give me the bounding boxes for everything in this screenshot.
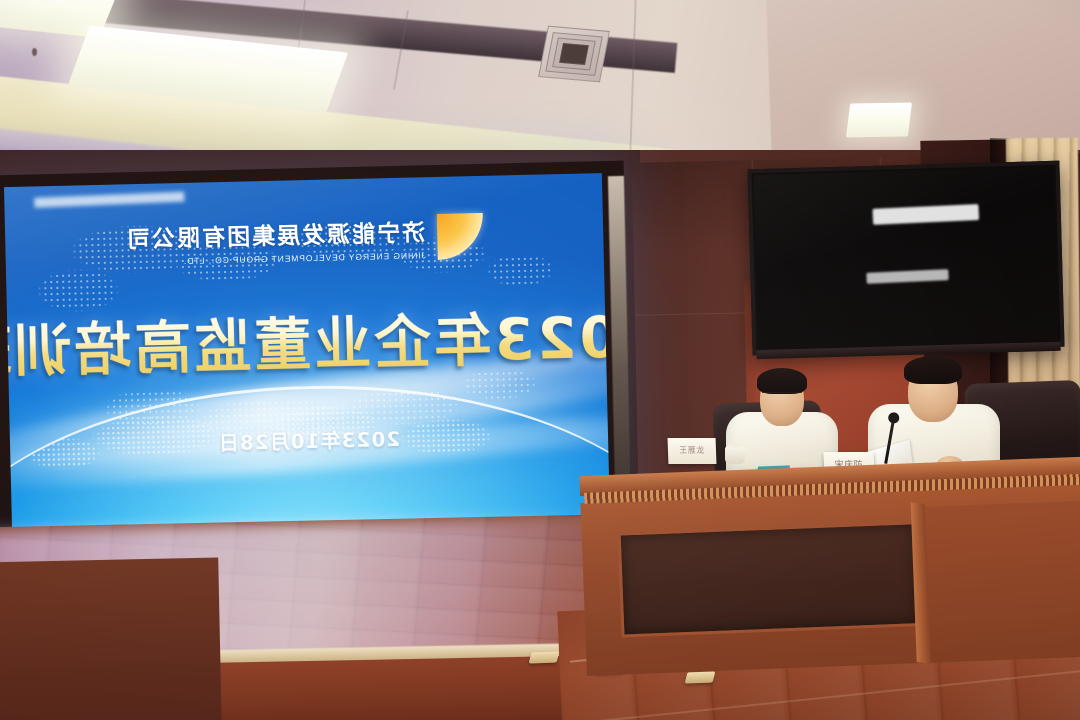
tv-reflection xyxy=(866,269,948,284)
hair xyxy=(904,356,962,384)
fan-logo-icon xyxy=(437,212,484,259)
floor-marker xyxy=(685,671,716,683)
rostrum-inset-panel xyxy=(618,521,922,637)
nameplate-left-text: 王雁龙 xyxy=(679,447,705,456)
nameplate-left: 王雁龙 xyxy=(668,438,717,464)
company-logo-block: 济宁能源发展集团有限公司 JINING ENERGY DEVELOPMENT G… xyxy=(125,212,484,267)
tv-reflection xyxy=(872,204,979,225)
ceiling-fixture-dot xyxy=(32,48,37,56)
photograph-scene: 济宁能源发展集团有限公司 JINING ENERGY DEVELOPMENT G… xyxy=(0,0,1080,720)
rostrum xyxy=(579,456,1080,676)
slide-date: 2023年10月28日 xyxy=(218,423,401,456)
slide-title: 2023年企业董监高培训班 xyxy=(4,291,610,390)
ceiling-seam xyxy=(629,0,636,150)
floor-marker xyxy=(529,651,560,663)
hair xyxy=(757,368,807,394)
led-screen-frame: 济宁能源发展集团有限公司 JINING ENERGY DEVELOPMENT G… xyxy=(0,161,632,548)
rostrum-side-face xyxy=(925,500,1080,663)
glasses-icon xyxy=(762,392,802,397)
company-logo-text: 济宁能源发展集团有限公司 JINING ENERGY DEVELOPMENT G… xyxy=(125,213,426,267)
tv-screen xyxy=(754,167,1059,349)
led-screen: 济宁能源发展集团有限公司 JINING ENERGY DEVELOPMENT G… xyxy=(4,173,610,531)
stage-front-face xyxy=(0,558,222,720)
company-name-cn: 济宁能源发展集团有限公司 xyxy=(125,213,426,254)
ceiling-light-panel xyxy=(846,102,912,137)
slide-content: 济宁能源发展集团有限公司 JINING ENERGY DEVELOPMENT G… xyxy=(4,173,610,531)
riser-seam xyxy=(572,669,1080,720)
air-vent-diffuser xyxy=(538,26,610,83)
tea-cup xyxy=(725,446,745,464)
wall-mounted-television xyxy=(747,161,1064,356)
